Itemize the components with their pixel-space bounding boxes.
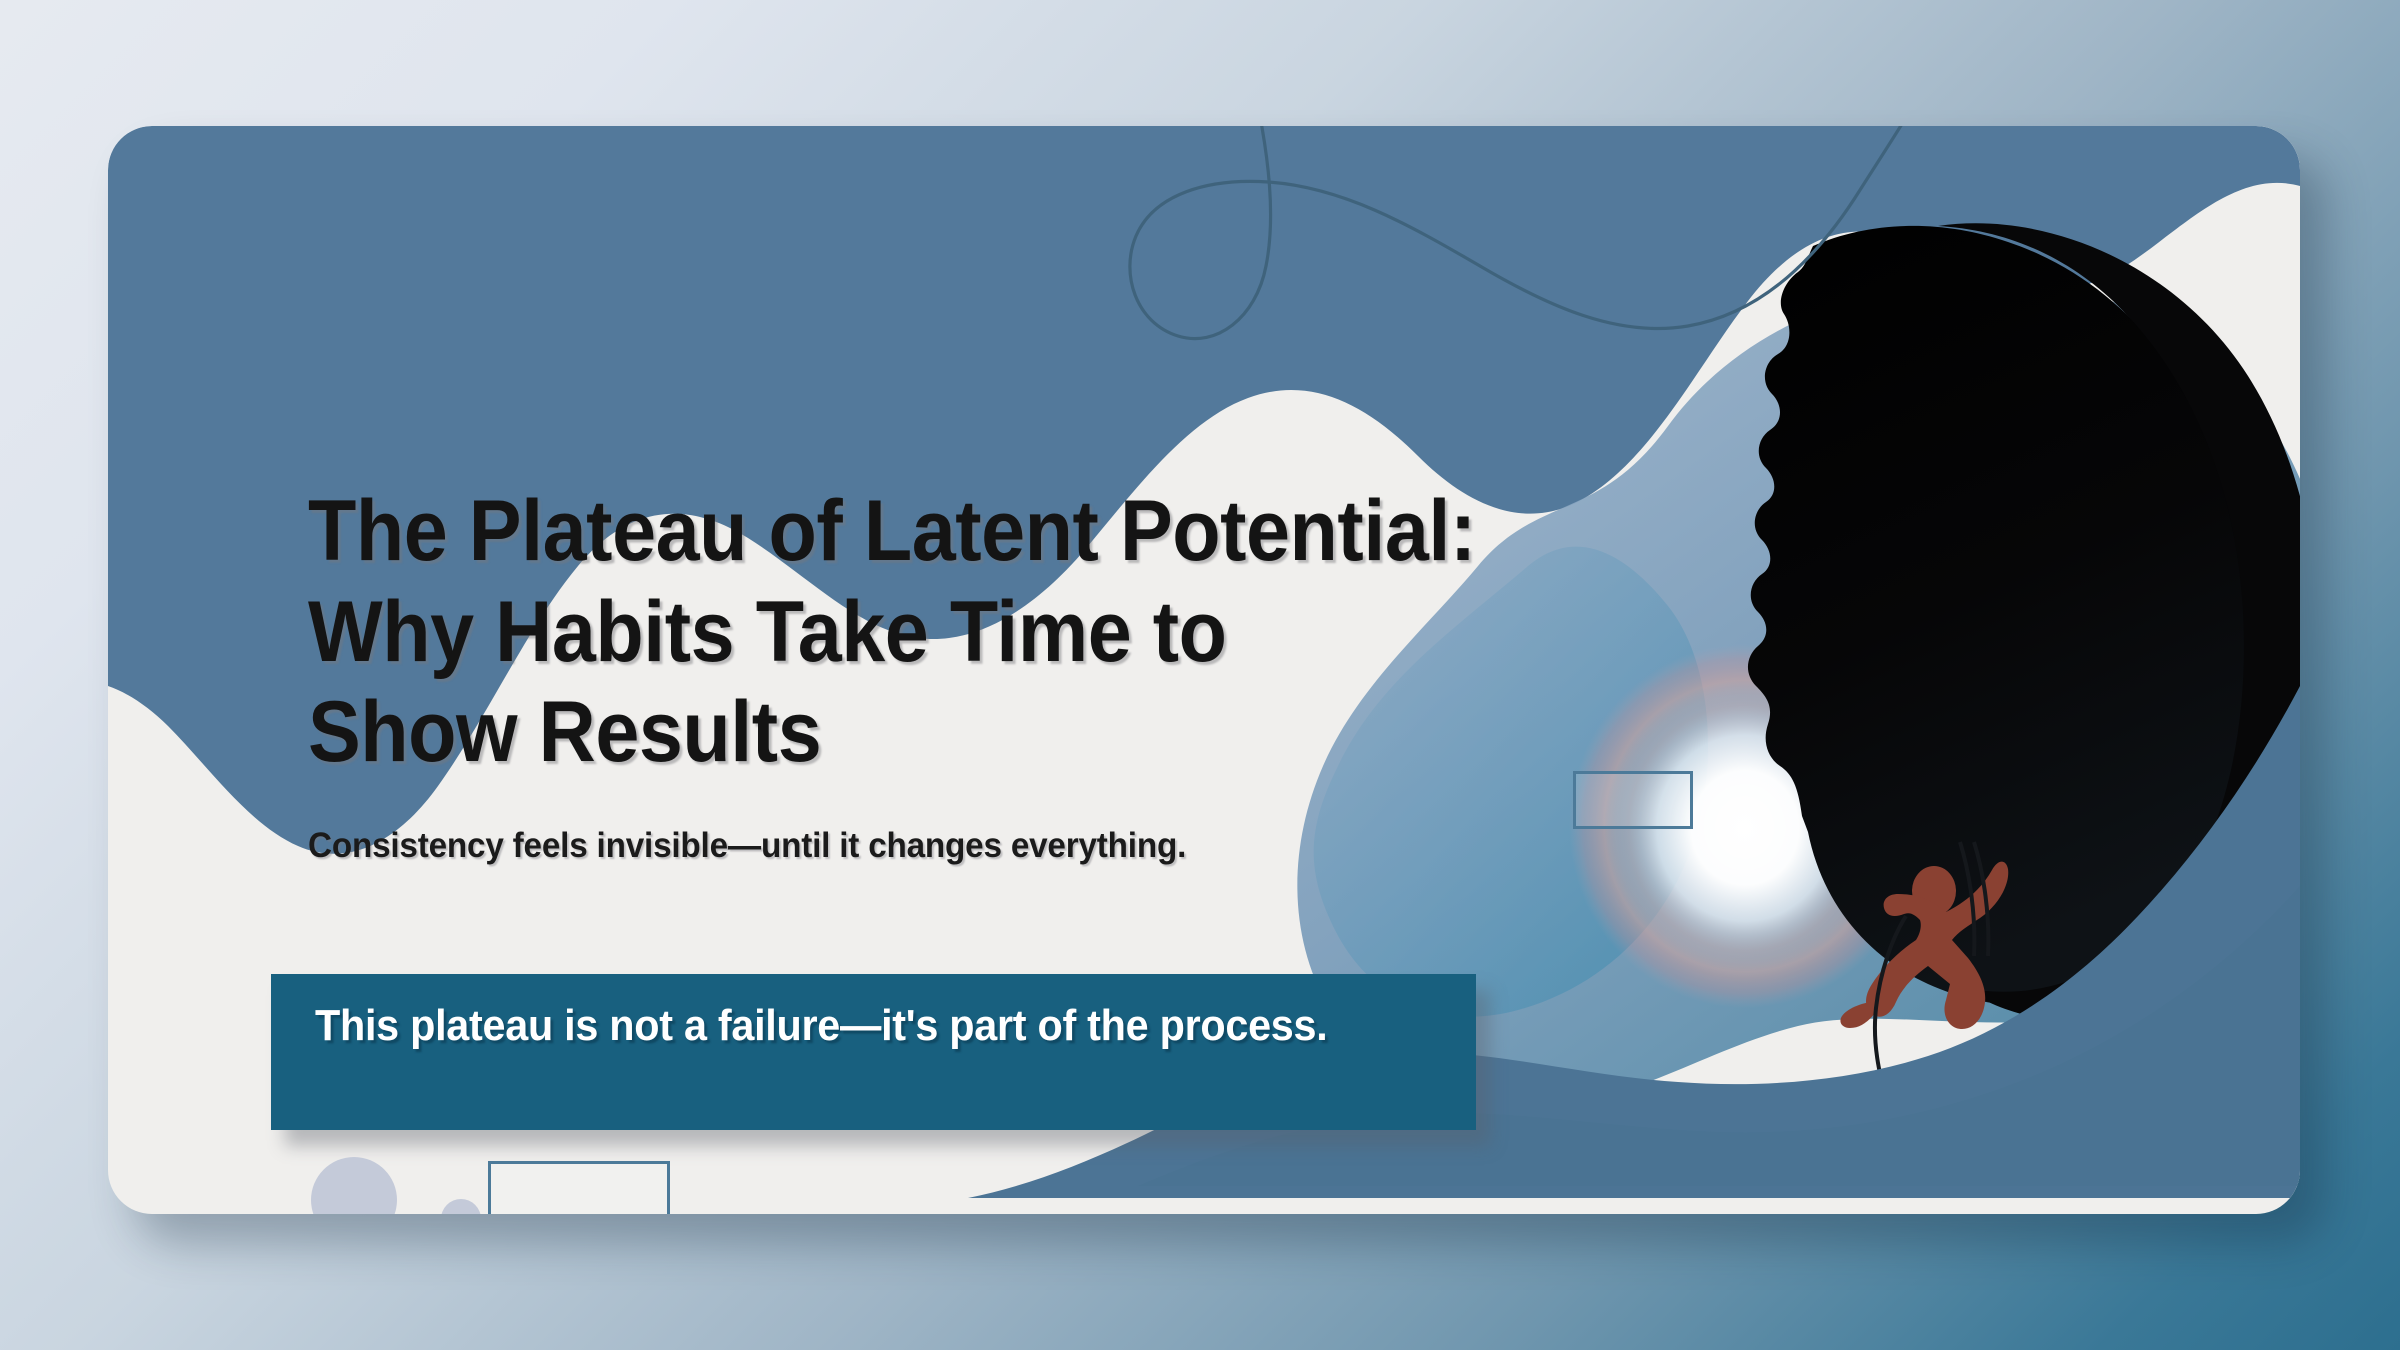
slide-canvas: The Plateau of Latent Potential: Why Hab… <box>0 0 2400 1350</box>
placeholder-box-right <box>1573 771 1693 829</box>
slide-card: The Plateau of Latent Potential: Why Hab… <box>108 126 2300 1214</box>
placeholder-box-upper-left <box>488 1161 670 1214</box>
callout-banner: This plateau is not a failure—it's part … <box>271 974 1476 1130</box>
page-title: The Plateau of Latent Potential: Why Hab… <box>308 481 1532 783</box>
subtitle: Consistency feels invisible—until it cha… <box>308 826 1543 866</box>
callout-text: This plateau is not a failure—it's part … <box>315 998 1387 1053</box>
